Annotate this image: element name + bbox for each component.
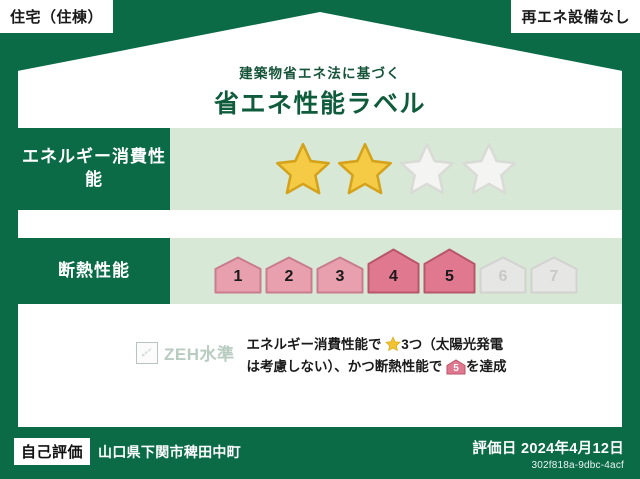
star-filled-icon [336, 141, 394, 197]
badge-building-type-label: 住宅（住棟） [10, 6, 103, 27]
house-level-scale: 1234567 [214, 248, 578, 294]
self-evaluation-group: 自己評価 山口県下関市稗田中町 [14, 438, 241, 465]
evaluation-info: 評価日 2024年4月12日 302f818a-9dbc-4acf [472, 437, 624, 471]
zeh-desc-line1-post: 3つ（太陽光発電 [401, 337, 503, 352]
zeh-section: ZEH水準 エネルギー消費性能で 3つ（太陽光発電 は考慮しない）、かつ断熱性能… [18, 334, 622, 379]
insulation-performance-label: 断熱性能 [18, 238, 170, 304]
house-level-2: 2 [265, 256, 313, 294]
house-level-7: 7 [530, 256, 578, 294]
property-address: 山口県下関市稗田中町 [98, 442, 241, 462]
house-shape-icon [479, 256, 527, 294]
energy-performance-label: エネルギー消費性能 [18, 128, 170, 210]
house-shape-icon [423, 248, 476, 294]
zeh-description: エネルギー消費性能で 3つ（太陽光発電 は考慮しない）、かつ断熱性能で 5 を達… [247, 334, 507, 379]
inline-house-badge-icon: 5 [446, 359, 466, 375]
star-empty-icon [398, 141, 456, 197]
house-shape-icon [214, 256, 262, 294]
inline-star-icon [385, 336, 401, 352]
page-title: 省エネ性能ラベル [18, 84, 622, 120]
house-shape-icon [316, 256, 364, 294]
house-level-1: 1 [214, 256, 262, 294]
zeh-description-line1: エネルギー消費性能で 3つ（太陽光発電 [247, 334, 507, 356]
page-subtitle: 建築物省エネ法に基づく [18, 62, 622, 82]
house-level-4: 4 [367, 248, 420, 294]
badge-building-type: 住宅（住棟） [0, 0, 113, 33]
zeh-check-box-icon [136, 342, 158, 364]
house-level-6: 6 [479, 256, 527, 294]
zeh-desc-line2-post: を達成 [466, 359, 507, 374]
zeh-description-line2: は考慮しない）、かつ断熱性能で 5 を達成 [247, 356, 507, 378]
zeh-desc-line2-pre: は考慮しない）、かつ断熱性能で [247, 359, 443, 374]
star-filled-icon [274, 141, 332, 197]
star-empty-icon [460, 141, 518, 197]
insulation-performance-scale: 1234567 [170, 238, 622, 304]
inline-house-badge-number: 5 [446, 361, 466, 378]
footer: 自己評価 山口県下関市稗田中町 評価日 2024年4月12日 302f818a-… [0, 427, 640, 479]
zeh-mark: ZEH水準 [136, 340, 235, 365]
self-evaluation-badge: 自己評価 [14, 438, 90, 465]
evaluation-date: 評価日 2024年4月12日 [472, 437, 624, 458]
zeh-desc-line1-pre: エネルギー消費性能で [247, 337, 382, 352]
star-rating [274, 141, 518, 197]
energy-performance-stars [170, 128, 622, 210]
house-level-3: 3 [316, 256, 364, 294]
evaluation-id: 302f818a-9dbc-4acf [472, 460, 624, 471]
zeh-label: ZEH水準 [164, 340, 235, 365]
house-shape-icon [530, 256, 578, 294]
house-shape-icon [265, 256, 313, 294]
insulation-performance-row: 断熱性能 1234567 [18, 238, 622, 304]
house-level-5: 5 [423, 248, 476, 294]
energy-performance-row: エネルギー消費性能 [18, 128, 622, 210]
badge-renewable-energy-label: 再エネ設備なし [521, 6, 630, 27]
house-shape-icon [367, 248, 420, 294]
badge-renewable-energy: 再エネ設備なし [511, 0, 640, 33]
